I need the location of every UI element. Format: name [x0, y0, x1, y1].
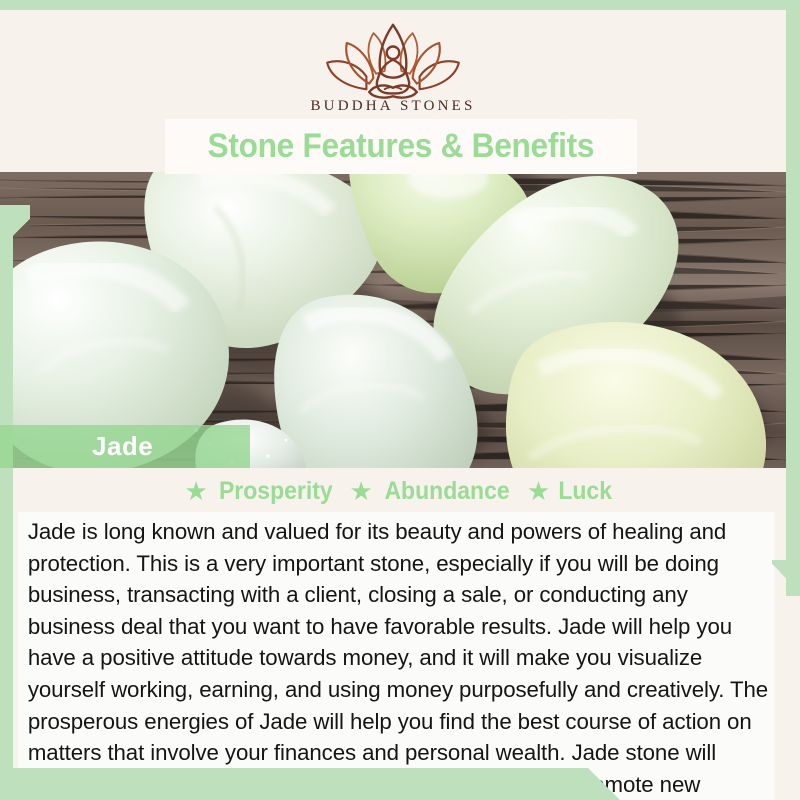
- stone-description: Jade is long known and valued for its be…: [18, 512, 774, 800]
- page-title: Stone Features & Benefits: [208, 127, 595, 166]
- star-icon: ★: [527, 478, 550, 504]
- stone-name: Jade: [92, 431, 153, 462]
- benefit-item-abundance: ★ Abundance: [349, 477, 514, 506]
- lotus-meditation-icon: [323, 22, 463, 96]
- right-accent-strip-chamfer: [772, 560, 800, 596]
- left-accent-strip: [0, 205, 13, 800]
- brand-header: BUDDHA STONES: [0, 10, 786, 122]
- frame-top-border: [0, 0, 800, 10]
- benefit-item-prosperity: ★ Prosperity: [184, 477, 337, 506]
- jade-stones-photo: [0, 172, 786, 468]
- benefit-label: Luck: [559, 477, 613, 506]
- left-accent-strip-chamfer: [0, 205, 30, 263]
- star-icon: ★: [184, 478, 207, 504]
- right-accent-strip: [786, 172, 800, 596]
- section-title-band: Stone Features & Benefits: [165, 119, 637, 174]
- bottom-accent-band: [0, 768, 620, 800]
- benefit-label: Abundance: [384, 477, 509, 506]
- infographic-page: BUDDHA STONES Stone Features & Benefits: [0, 0, 800, 800]
- benefits-row: ★ Prosperity ★ Abundance ★ Luck: [13, 468, 786, 508]
- brand-wordmark: BUDDHA STONES: [310, 98, 475, 115]
- benefit-label: Prosperity: [219, 477, 333, 506]
- stone-name-banner: Jade: [0, 425, 250, 468]
- star-icon: ★: [349, 478, 372, 504]
- frame-right-border: [786, 0, 800, 182]
- content-panel: ★ Prosperity ★ Abundance ★ Luck Jade is …: [13, 468, 786, 800]
- benefit-item-luck: ★ Luck: [527, 477, 615, 506]
